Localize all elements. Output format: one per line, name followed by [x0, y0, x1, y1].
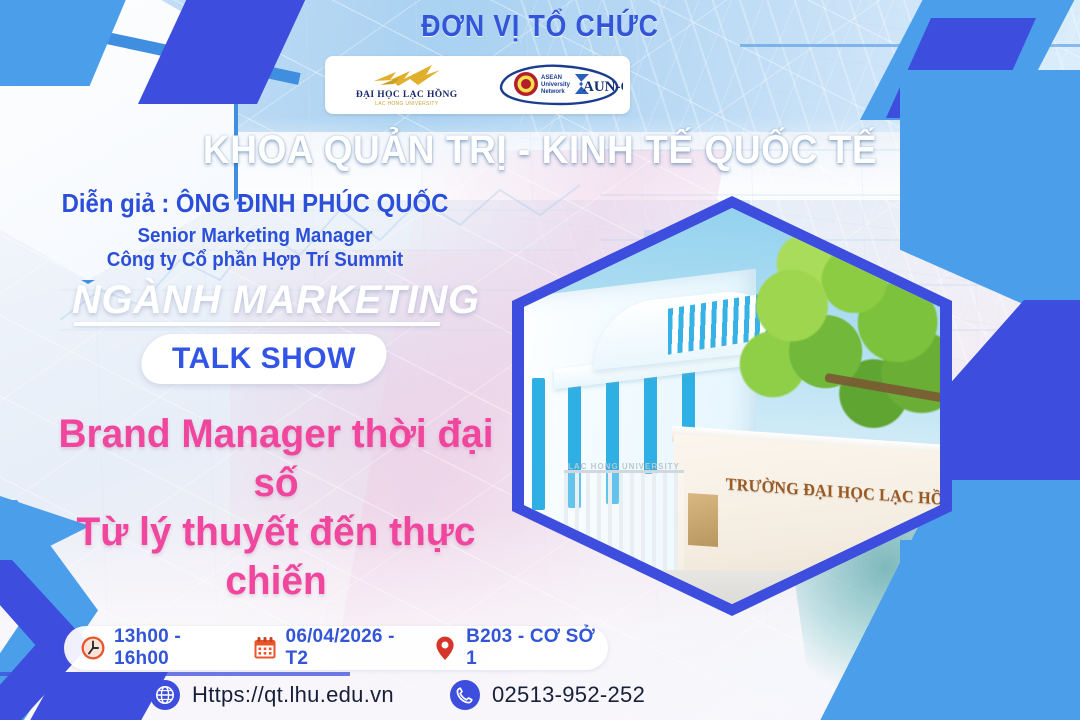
- lac-hong-bird-icon: [370, 63, 444, 89]
- poster-canvas: ĐƠN VỊ TỔ CHỨC ĐẠI HỌC LẠC HỒNG LAC HONG…: [0, 0, 1080, 720]
- headline-line-2: Từ lý thuyết đến thực chiến: [34, 508, 519, 606]
- info-location-text: B203 - CƠ SỞ 1: [466, 626, 596, 670]
- aun-qa-logo: ASEAN University Network AUN-QA: [495, 62, 623, 108]
- clock-icon: [80, 635, 106, 661]
- aun-qa-logo-text: AUN-QA: [583, 79, 623, 95]
- info-date-text: 06/04/2026 - T2: [286, 626, 409, 670]
- calendar-icon: [252, 635, 278, 661]
- lac-hong-logo-text: ĐẠI HỌC LẠC HỒNG: [356, 90, 458, 100]
- major-underline: [74, 322, 441, 326]
- svg-text:ASEAN: ASEAN: [541, 75, 562, 81]
- headline: Brand Manager thời đại số Từ lý thuyết đ…: [34, 410, 519, 606]
- contact-row: Https://qt.lhu.edu.vn 02513-952-252: [150, 680, 645, 710]
- bottom-divider-line: [0, 672, 350, 676]
- organizer-label: ĐƠN VỊ TỔ CHỨC: [76, 8, 1005, 44]
- contact-website-text: Https://qt.lhu.edu.vn: [192, 682, 394, 708]
- info-item-location: B203 - CƠ SỞ 1: [420, 626, 608, 670]
- info-item-date: 06/04/2026 - T2: [240, 626, 421, 670]
- contact-website[interactable]: Https://qt.lhu.edu.vn: [150, 680, 394, 710]
- lac-hong-logo: ĐẠI HỌC LẠC HỒNG LAC HONG UNIVERSITY: [332, 63, 482, 107]
- contact-phone-text: 02513-952-252: [492, 682, 645, 708]
- logo-bar: ĐẠI HỌC LẠC HỒNG LAC HONG UNIVERSITY ASE…: [325, 56, 630, 114]
- speaker-company: Công ty Cổ phần Hợp Trí Summit: [53, 249, 457, 272]
- info-time-text: 13h00 - 16h00: [114, 626, 228, 670]
- speaker-role: Senior Marketing Manager: [53, 225, 457, 248]
- talk-show-label: TALK SHOW: [142, 334, 386, 384]
- lac-hong-logo-subtext: LAC HONG UNIVERSITY: [375, 101, 438, 107]
- svg-text:University: University: [541, 82, 571, 88]
- photo-building-stripe: [532, 378, 545, 510]
- phone-icon: [450, 680, 480, 710]
- svg-text:Network: Network: [541, 89, 565, 95]
- photo-plaque: [688, 493, 718, 547]
- info-item-time: 13h00 - 16h00: [64, 626, 240, 670]
- headline-line-1: Brand Manager thời đại số: [34, 410, 519, 508]
- location-pin-icon: [432, 635, 458, 661]
- major-title: NGÀNH MARKETING: [72, 278, 479, 323]
- faculty-title: KHOA QUẢN TRỊ - KINH TẾ QUỐC TẾ: [38, 128, 1042, 173]
- contact-phone[interactable]: 02513-952-252: [450, 680, 645, 710]
- globe-icon: [150, 680, 180, 710]
- speaker-name: Diễn giả : ÔNG ĐINH PHÚC QUỐC: [57, 188, 453, 219]
- event-info-bar: 13h00 - 16h00 06/04/2026 - T2: [64, 626, 608, 670]
